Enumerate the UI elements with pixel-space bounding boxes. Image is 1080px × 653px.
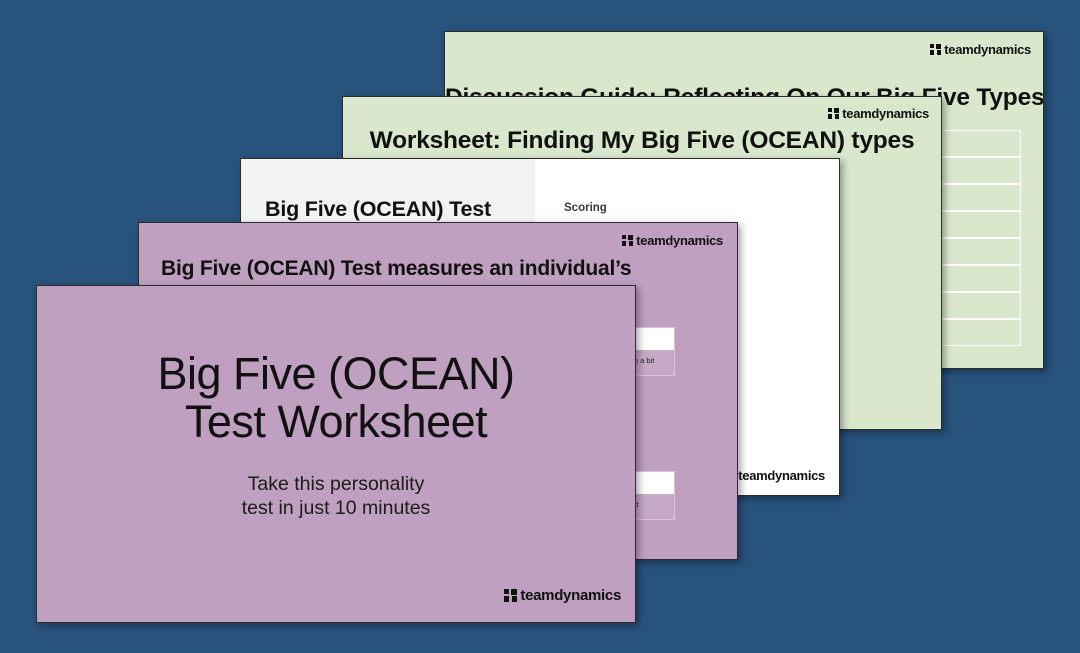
brand-logo: teamdynamics [828,106,929,121]
brand-wordmark: teamdynamics [520,587,621,604]
brand-logo: teamdynamics [724,468,825,483]
cover-title: Big Five (OCEAN) Test Worksheet [37,350,635,445]
brand-wordmark: teamdynamics [842,106,929,121]
cover-subtitle-line-2: test in just 10 minutes [37,496,635,520]
teamdynamics-blocks-icon [504,589,517,602]
slide-title: Worksheet: Finding My Big Five (OCEAN) t… [343,127,941,155]
brand-wordmark: teamdynamics [636,233,723,248]
cover-title-line-2: Test Worksheet [37,398,635,446]
teamdynamics-blocks-icon [622,235,633,246]
slide-deck-preview-canvas: teamdynamics Discussion Guide: Reflectin… [0,0,1080,653]
cover-subtitle: Take this personality test in just 10 mi… [37,472,635,520]
brand-wordmark: teamdynamics [944,42,1031,57]
brand-logo: teamdynamics [930,42,1031,57]
teamdynamics-blocks-icon [828,108,839,119]
cover-title-line-1: Big Five (OCEAN) [37,350,635,398]
brand-wordmark: teamdynamics [738,468,825,483]
slide-title: Big Five (OCEAN) Test [265,197,491,222]
teamdynamics-blocks-icon [930,44,941,55]
section-heading-scoring: Scoring [564,202,607,214]
cover-subtitle-line-1: Take this personality [37,472,635,496]
brand-logo: teamdynamics [622,233,723,248]
brand-logo: teamdynamics [504,587,621,604]
slide-cover[interactable]: Big Five (OCEAN) Test Worksheet Take thi… [36,285,636,623]
slide-title: Big Five (OCEAN) Test measures an indivi… [161,257,631,281]
